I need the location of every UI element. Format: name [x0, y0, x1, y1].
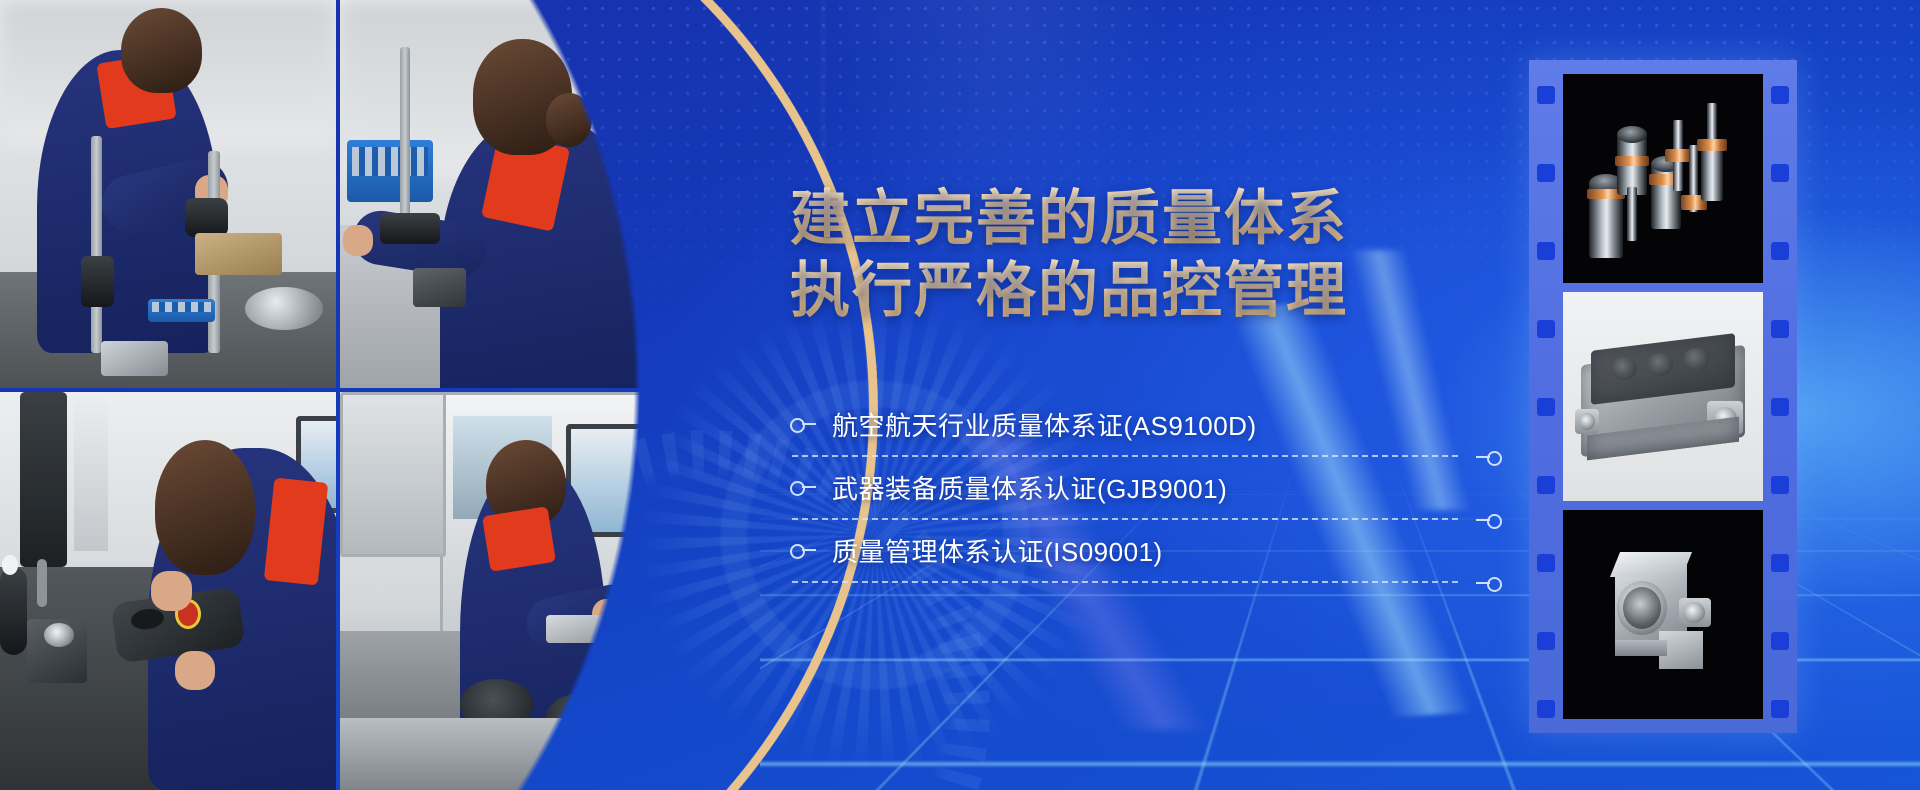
product-filmstrip [1529, 60, 1797, 733]
bullet-marker-icon [790, 480, 816, 494]
certification-label: 武器装备质量体系认证(GJB9001) [832, 469, 1227, 506]
headline-line-2: 执行严格的品控管理 [790, 257, 1470, 325]
certification-label: 航空航天行业质量体系证(AS9100D) [832, 406, 1257, 443]
connector-end-icon [1476, 576, 1502, 590]
certification-label: 质量管理体系认证(IS09001) [832, 532, 1163, 569]
filmstrip-perforations-left [1533, 60, 1559, 733]
product-photo-3 [1563, 510, 1763, 719]
product-photo-1 [1563, 74, 1763, 283]
bullet-marker-icon [790, 543, 816, 557]
dashed-connector-line [792, 518, 1458, 520]
collage-photo-3 [0, 392, 336, 790]
product-photo-2 [1563, 292, 1763, 501]
collage-photo-4 [340, 392, 672, 790]
certification-list: 航空航天行业质量体系证(AS9100D) 武器装备质量体系认证(GJB9001) [790, 400, 1450, 589]
headline: 建立完善的质量体系 执行严格的品控管理 [790, 185, 1470, 326]
certification-item: 武器装备质量体系认证(GJB9001) [790, 463, 1450, 526]
collage-photo-2 [340, 0, 672, 388]
headline-line-1: 建立完善的质量体系 [790, 185, 1470, 253]
filmstrip-frames [1563, 74, 1763, 719]
bullet-marker-icon [790, 417, 816, 431]
photo-collage [0, 0, 672, 790]
quality-system-banner: 建立完善的质量体系 执行严格的品控管理 航空航天行业质量体系证(AS9100D)… [0, 0, 1920, 790]
certification-item: 质量管理体系认证(IS09001) [790, 526, 1450, 589]
dashed-connector-line [792, 455, 1458, 457]
collage-photo-1 [0, 0, 336, 388]
certification-item: 航空航天行业质量体系证(AS9100D) [790, 400, 1450, 463]
connector-end-icon [1476, 513, 1502, 527]
dashed-connector-line [792, 581, 1458, 583]
connector-end-icon [1476, 450, 1502, 464]
filmstrip-perforations-right [1767, 60, 1793, 733]
